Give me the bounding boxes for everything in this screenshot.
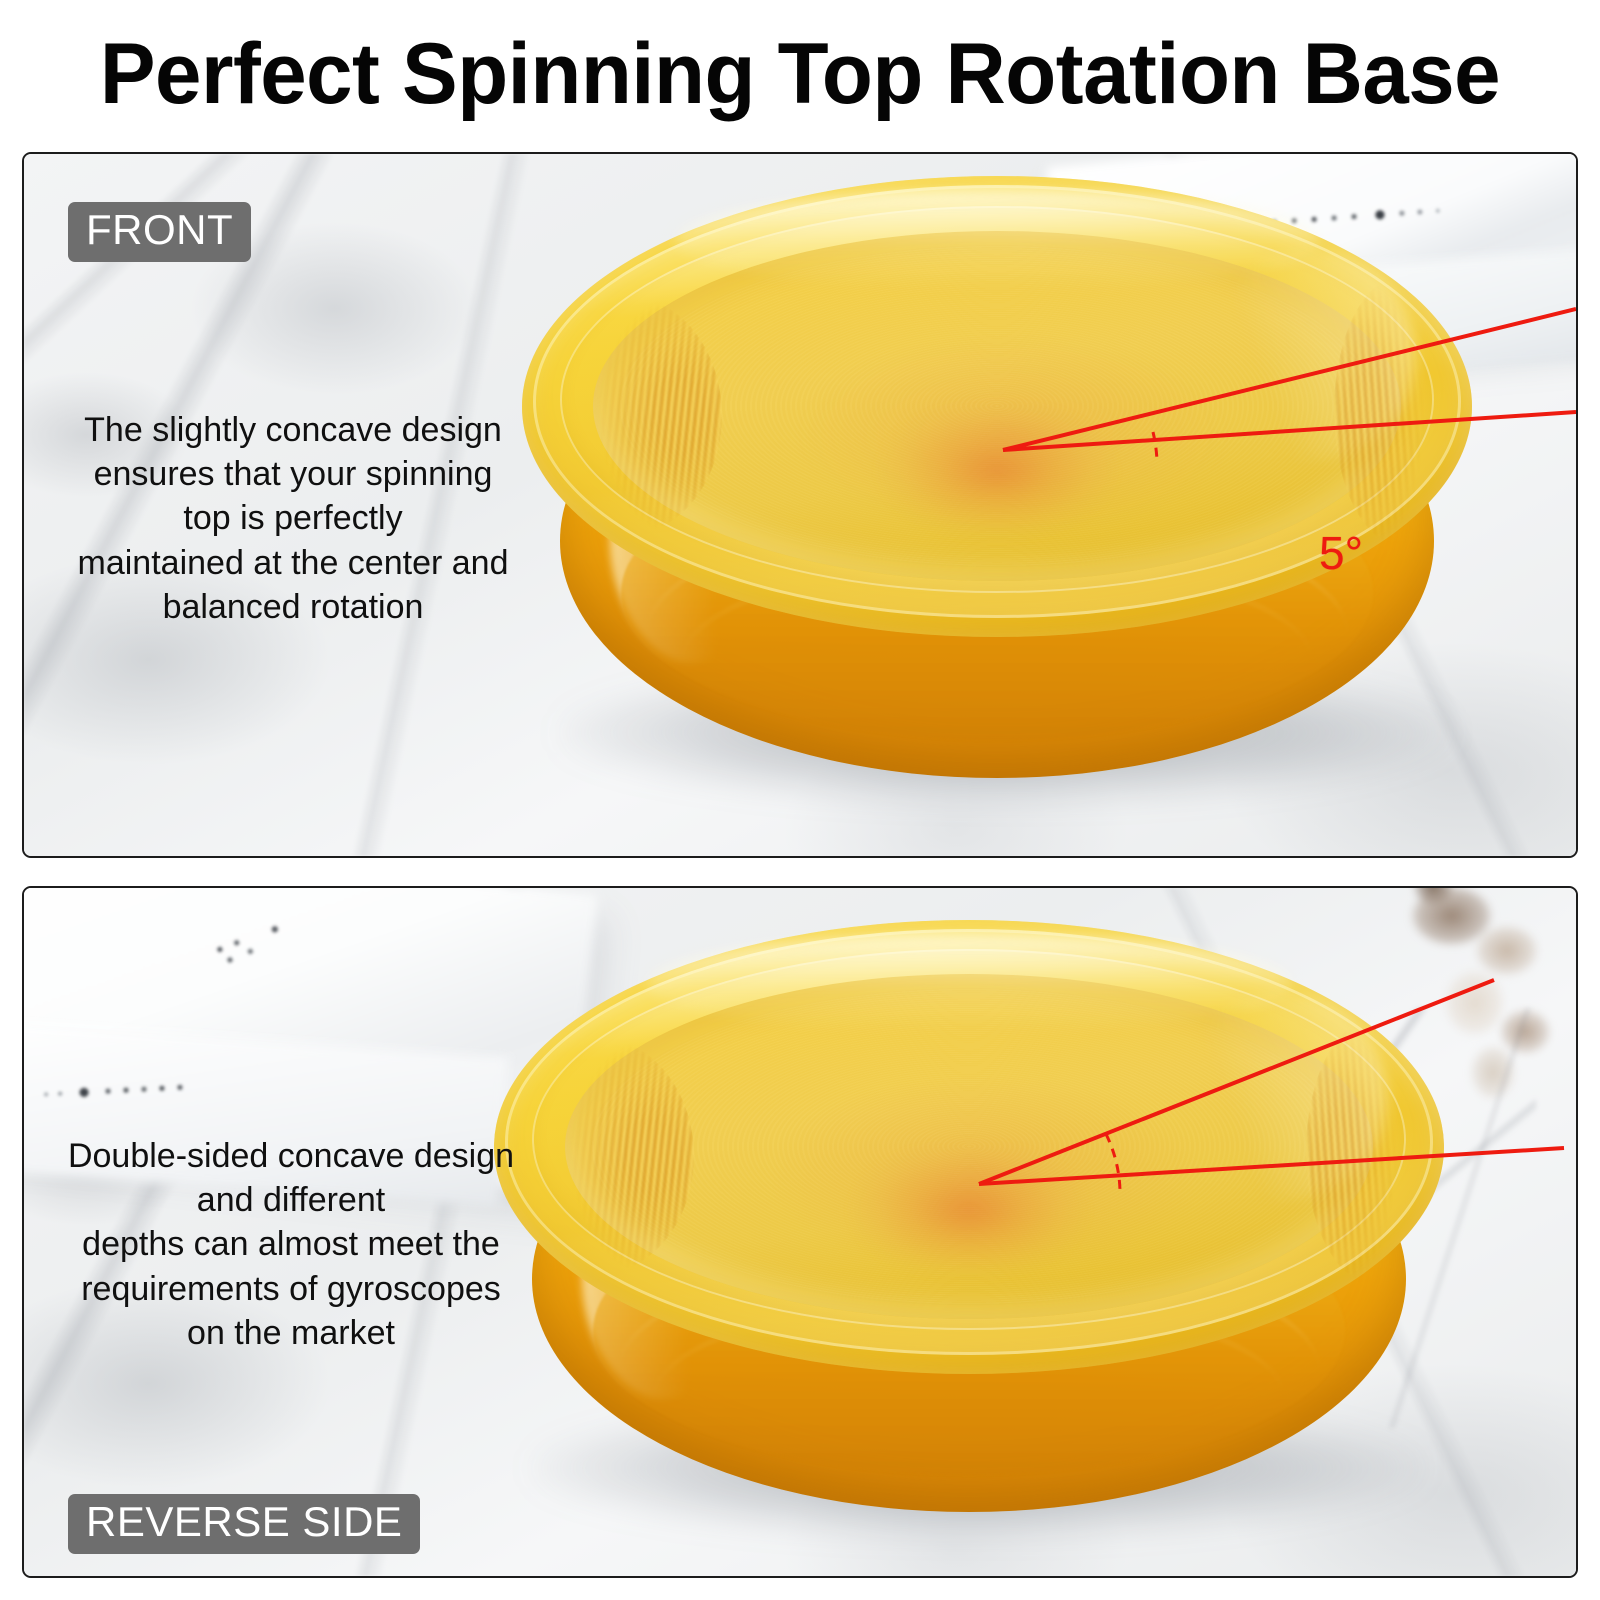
caption-front: The slightly concave design ensures that…: [54, 408, 532, 629]
disc-left-bevel-rings: [532, 296, 722, 536]
disc-center-hotspot-icon: [855, 1147, 1083, 1274]
panel-front: 5° FRONT The slightly concave design ens…: [22, 152, 1578, 858]
caption-reverse: Double-sided concave design and differen…: [48, 1134, 534, 1355]
page-title: Perfect Spinning Top Rotation Base: [24, 0, 1576, 148]
disc-right-bevel-rings: [1306, 1020, 1439, 1283]
disc-top-specular: [646, 934, 1292, 1034]
angle-label-front: 5°: [1319, 530, 1363, 576]
product-image-reverse: [494, 920, 1444, 1550]
disc-center-hotspot-icon: [883, 406, 1111, 535]
disc-top-plate: [494, 920, 1444, 1374]
disc-top-specular: [674, 190, 1320, 291]
disc-right-bevel-rings: [1334, 277, 1467, 544]
panel-reverse: 15° REVERSE SIDE Double-sided concave de…: [22, 886, 1578, 1578]
product-image-front: [522, 176, 1472, 816]
badge-front: FRONT: [68, 202, 251, 262]
badge-reverse: REVERSE SIDE: [68, 1494, 420, 1554]
